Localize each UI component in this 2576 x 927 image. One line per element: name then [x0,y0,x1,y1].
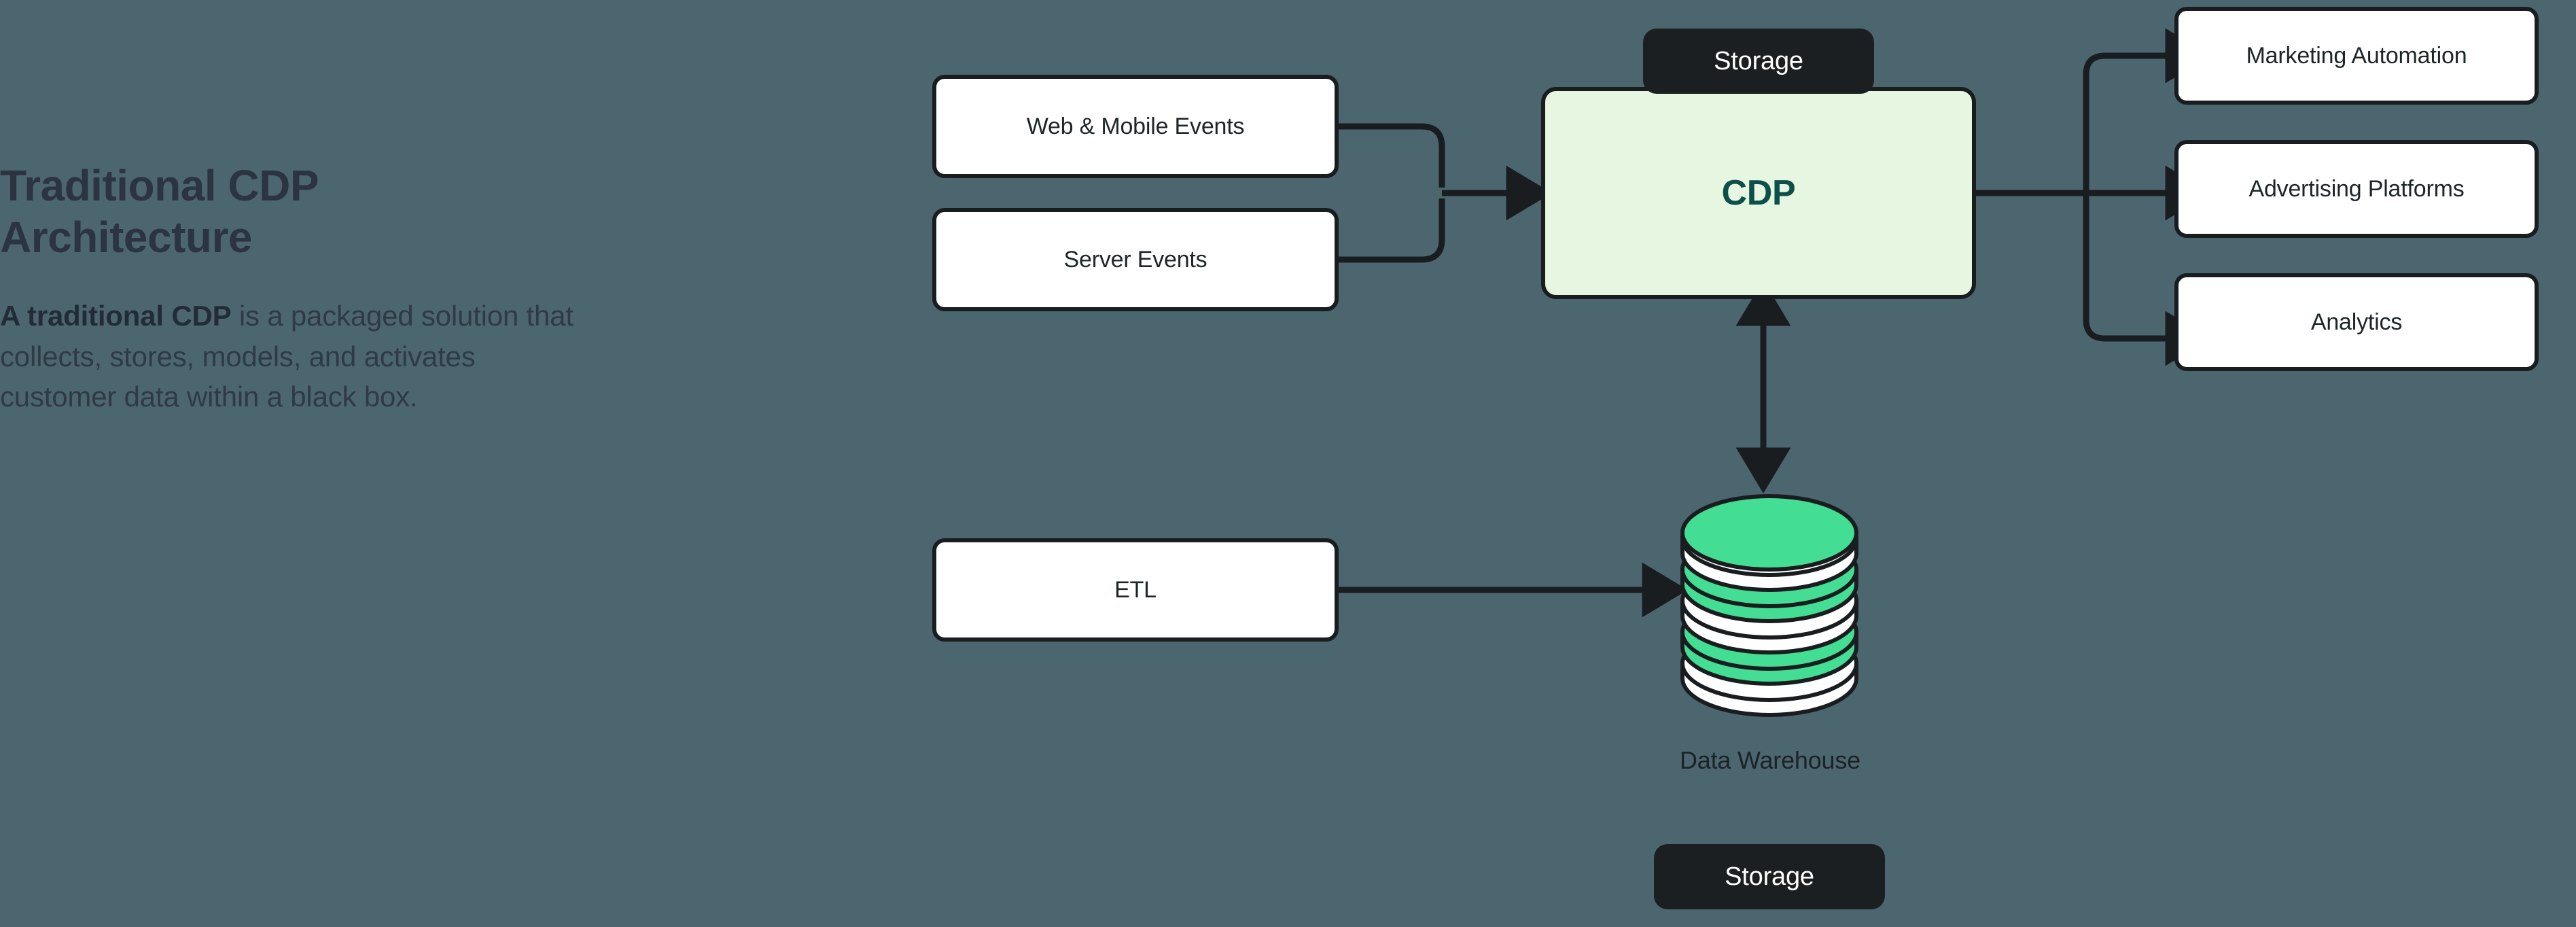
node-label: Marketing Automation [2246,43,2467,69]
node-server-events[interactable]: Server Events [932,208,1339,311]
caption-text: Data Warehouse [1680,746,1860,774]
database-icon [1678,493,1860,722]
node-cdp[interactable]: CDP [1541,87,1976,299]
connector-cdp-to-analytics [2086,319,2174,338]
slide-canvas: Traditional CDP Architecture A tradition… [0,0,2576,927]
node-label: Advertising Platforms [2248,176,2464,203]
node-marketing-automation[interactable]: Marketing Automation [2174,7,2539,105]
node-label: CDP [1722,173,1796,213]
node-label: ETL [1114,577,1157,604]
node-web-mobile-events[interactable]: Web & Mobile Events [932,75,1339,178]
node-advertising-platforms[interactable]: Advertising Platforms [2174,140,2539,238]
data-warehouse-cylinder[interactable] [1678,493,1860,722]
badge-cdp-storage: Storage [1643,29,1874,94]
badge-label: Storage [1714,47,1803,76]
badge-label: Storage [1725,862,1814,892]
connector-server-events-to-trunk [1335,198,1442,260]
badge-warehouse-storage: Storage [1654,844,1885,909]
architecture-diagram: Web & Mobile Events Server Events ETL CD… [0,0,2576,927]
connector-cdp-to-marketing-automation [2086,56,2174,75]
node-label: Analytics [2311,309,2402,336]
node-etl[interactable]: ETL [932,538,1339,642]
node-analytics[interactable]: Analytics [2174,273,2539,371]
connector-web-events-to-trunk [1335,126,1442,188]
node-label: Server Events [1064,247,1207,273]
node-label: Web & Mobile Events [1027,113,1245,140]
label-data-warehouse: Data Warehouse [1610,746,1930,775]
